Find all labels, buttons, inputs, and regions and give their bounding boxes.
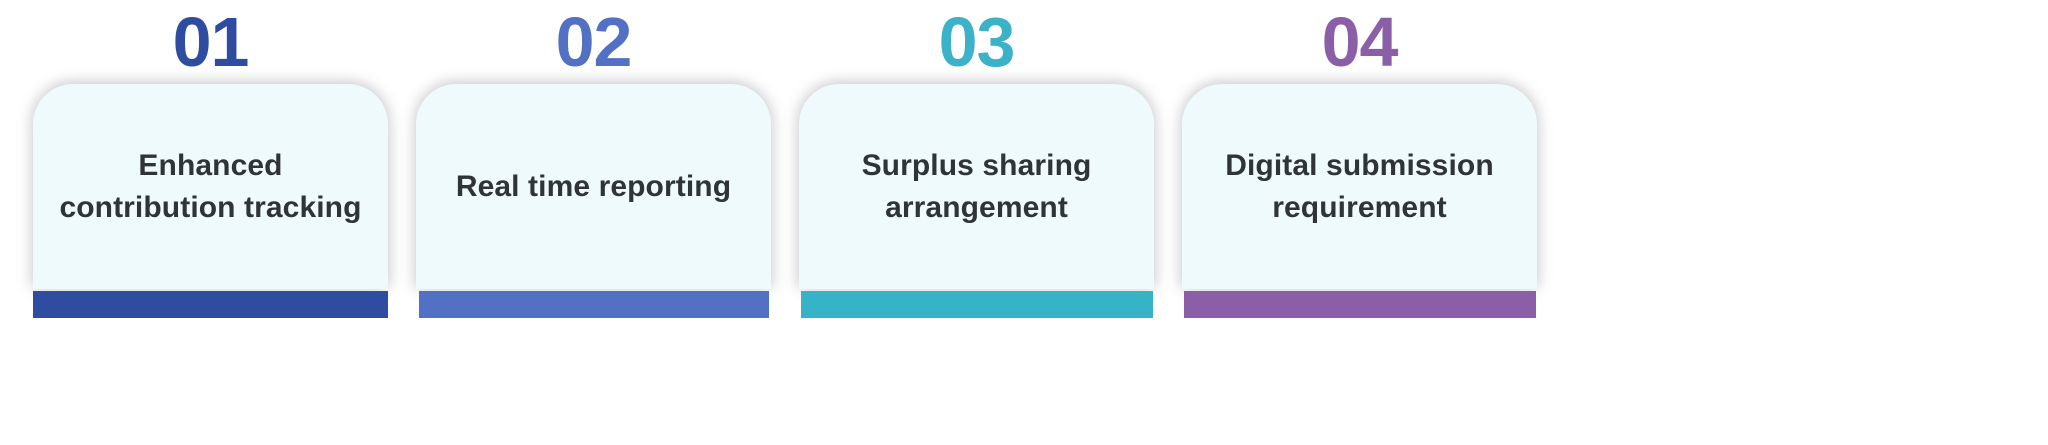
card-unit-04[interactable]: 04 Digital submission requirement (1182, 0, 1537, 445)
card-title-03: Surplus sharing arrangement (817, 145, 1136, 229)
card-body-02[interactable]: Real time reporting (416, 84, 771, 289)
card-body-04[interactable]: Digital submission requirement (1182, 84, 1537, 289)
card-unit-03[interactable]: 03 Surplus sharing arrangement (799, 0, 1154, 445)
card-accent-bar-01 (33, 291, 388, 318)
card-accent-bar-03 (801, 291, 1153, 318)
card-accent-bar-02 (419, 291, 769, 318)
numbered-cards-board: 01 Enhanced contribution tracking 02 Rea… (0, 0, 2048, 445)
step-number-01: 01 (33, 0, 388, 84)
card-title-01: Enhanced contribution tracking (51, 145, 370, 229)
step-number-03: 03 (799, 0, 1154, 84)
card-title-02: Real time reporting (456, 166, 731, 208)
card-accent-bar-04 (1184, 291, 1536, 318)
step-number-04: 04 (1182, 0, 1537, 84)
card-body-01[interactable]: Enhanced contribution tracking (33, 84, 388, 289)
step-number-02: 02 (416, 0, 771, 84)
cards-row: 01 Enhanced contribution tracking 02 Rea… (33, 0, 2015, 445)
card-title-04: Digital submission requirement (1200, 145, 1519, 229)
card-unit-01[interactable]: 01 Enhanced contribution tracking (33, 0, 388, 445)
card-body-03[interactable]: Surplus sharing arrangement (799, 84, 1154, 289)
card-unit-02[interactable]: 02 Real time reporting (416, 0, 771, 445)
